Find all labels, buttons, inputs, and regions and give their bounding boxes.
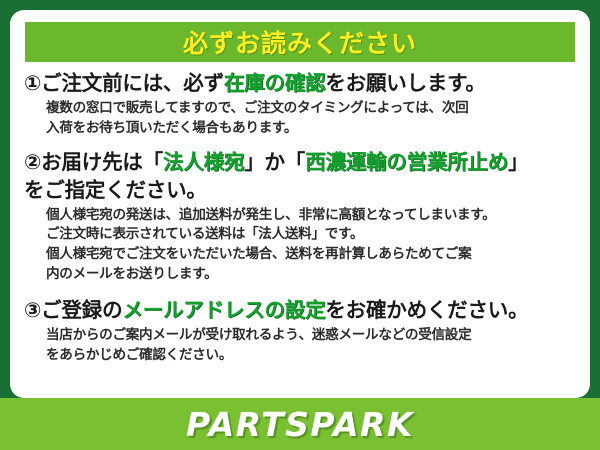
notice-item-2-headline-mid: 」か「 bbox=[244, 150, 305, 174]
notice-panel: 必ずお読みください ①ご注文前には、必ず在庫の確認をお願いします。 複数の窓口で… bbox=[10, 10, 590, 398]
notice-item-2-subtext: 個人様宅宛の発送は、追加送料が発生し、非常に高額となってしまいます。 ご注文時に… bbox=[46, 206, 580, 285]
notice-item-2-highlight-2: 西濃運輸の営業所止め bbox=[305, 150, 508, 174]
notice-item-1: ①ご注文前には、必ず在庫の確認をお願いします。 複数の窓口で販売してますので、ご… bbox=[24, 70, 580, 138]
notice-body: ①ご注文前には、必ず在庫の確認をお願いします。 複数の窓口で販売してますので、ご… bbox=[24, 70, 580, 369]
notice-item-3-headline: ③ご登録のメールアドレスの設定をお確かめください。 bbox=[24, 297, 580, 324]
notice-item-2-subtext-line-3: 個人様宅宛でご注文をいただいた場合、送料を再計算しあらためてご案 bbox=[46, 245, 580, 265]
notice-item-3: ③ご登録のメールアドレスの設定をお確かめください。 当店からのご案内メールが受け… bbox=[24, 297, 580, 365]
notice-card: 必ずお読みください ①ご注文前には、必ず在庫の確認をお願いします。 複数の窓口で… bbox=[0, 0, 600, 450]
notice-item-2-headline-pre: お届け先は「 bbox=[41, 150, 163, 174]
notice-item-2-highlight: 法人様宛 bbox=[163, 150, 244, 174]
notice-item-1-subtext-line-2: 入荷をお待ち頂いただく場合もあります。 bbox=[46, 119, 580, 139]
notice-title-bar: 必ずお読みください bbox=[25, 22, 575, 62]
notice-item-3-subtext-line-1: 当店からのご案内メールが受け取れるよう、迷惑メールなどの受信設定 bbox=[46, 326, 580, 346]
notice-item-3-headline-pre: ご登録の bbox=[41, 298, 122, 322]
brand-logo: PARTSPARK bbox=[186, 405, 414, 444]
notice-item-1-subtext: 複数の窓口で販売してますので、ご注文のタイミングによっては、次回 入荷をお待ち頂… bbox=[46, 99, 580, 138]
notice-item-3-subtext: 当店からのご案内メールが受け取れるよう、迷惑メールなどの受信設定 をあらかじめご… bbox=[46, 326, 580, 365]
notice-item-2-headline: ②お届け先は「法人様宛」か「西濃運輸の営業所止め」 bbox=[24, 149, 580, 176]
notice-item-2-marker: ② bbox=[24, 150, 41, 174]
notice-item-2-headline-post: 」 bbox=[508, 150, 528, 174]
page-title: 必ずお読みください bbox=[183, 24, 417, 60]
notice-item-1-headline-pre: ご注文前には、必ず bbox=[41, 71, 224, 95]
footer-bar: PARTSPARK bbox=[0, 398, 600, 450]
notice-item-3-marker: ③ bbox=[24, 298, 41, 322]
notice-item-1-subtext-line-1: 複数の窓口で販売してますので、ご注文のタイミングによっては、次回 bbox=[46, 99, 580, 119]
notice-item-2-headline-line-2: をご指定ください。 bbox=[24, 177, 580, 204]
notice-item-1-headline-post: をお願いします。 bbox=[325, 71, 485, 95]
notice-item-3-highlight: メールアドレスの設定 bbox=[122, 298, 325, 322]
notice-item-2: ②お届け先は「法人様宛」か「西濃運輸の営業所止め」 をご指定ください。 個人様宅… bbox=[24, 149, 580, 284]
notice-item-1-highlight: 在庫の確認 bbox=[224, 71, 326, 95]
notice-item-2-subtext-line-2: ご注文時に表示されている送料は「法人送料」です。 bbox=[46, 225, 580, 245]
notice-item-1-marker: ① bbox=[24, 71, 41, 95]
notice-item-3-subtext-line-2: をあらかじめご確認ください。 bbox=[46, 346, 580, 366]
notice-item-3-headline-post: をお確かめください。 bbox=[325, 298, 528, 322]
notice-item-1-headline: ①ご注文前には、必ず在庫の確認をお願いします。 bbox=[24, 70, 580, 97]
notice-item-2-subtext-line-1: 個人様宅宛の発送は、追加送料が発生し、非常に高額となってしまいます。 bbox=[46, 206, 580, 226]
notice-item-2-subtext-line-4: 内のメールをお送りします。 bbox=[46, 265, 580, 285]
